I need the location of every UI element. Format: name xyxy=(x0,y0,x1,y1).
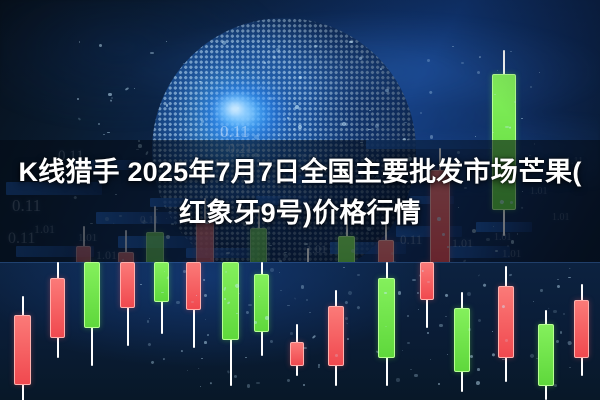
speckle xyxy=(439,324,443,328)
speckle xyxy=(568,341,572,345)
speckle xyxy=(447,354,449,356)
speckle xyxy=(196,295,197,296)
speckle xyxy=(478,274,480,276)
speckle xyxy=(149,318,150,319)
speckle xyxy=(348,290,353,295)
cover-image: 0.110.110.211.011.110.111.010.111.011.01… xyxy=(0,0,600,400)
speckle xyxy=(505,339,508,342)
speckle xyxy=(301,285,304,288)
speckle xyxy=(210,382,213,385)
speckle xyxy=(248,304,252,306)
speckle xyxy=(529,353,534,358)
speckle xyxy=(205,318,206,319)
speckle xyxy=(343,267,345,268)
speckle xyxy=(265,316,269,320)
speckle xyxy=(259,296,260,297)
speckle xyxy=(491,352,495,356)
speckle xyxy=(303,347,307,349)
speckle xyxy=(422,270,424,272)
speckle xyxy=(417,292,420,295)
speckle xyxy=(492,331,494,332)
speckle xyxy=(162,358,165,361)
speckle xyxy=(476,380,480,384)
speckle xyxy=(245,357,247,358)
speckle xyxy=(468,328,471,331)
speckle xyxy=(234,283,239,288)
speckle xyxy=(191,301,195,303)
title-line-1: K线猎手 2025年7月7日全国主要批发市场芒果( xyxy=(18,157,581,187)
speckle xyxy=(508,274,511,276)
speckle xyxy=(312,335,316,339)
speckle xyxy=(150,360,154,364)
speckle xyxy=(557,279,559,280)
speckle xyxy=(294,298,296,300)
speckle xyxy=(418,309,419,310)
speckle xyxy=(287,379,290,382)
speckle xyxy=(198,368,199,369)
speckle xyxy=(568,277,571,279)
speckle xyxy=(176,301,180,305)
speckle xyxy=(187,370,188,371)
speckle xyxy=(438,383,440,385)
speckle xyxy=(183,270,186,273)
speckle xyxy=(414,374,418,376)
speckle xyxy=(303,384,305,386)
speckle xyxy=(540,289,543,292)
speckle xyxy=(569,367,571,368)
speckle xyxy=(548,308,550,310)
speckle xyxy=(407,342,411,344)
speckle xyxy=(560,331,563,334)
speckle xyxy=(246,311,250,315)
speckle xyxy=(445,316,446,317)
speckle xyxy=(427,281,430,283)
speckle xyxy=(256,382,260,384)
speckle xyxy=(346,322,349,325)
speckle xyxy=(385,326,386,327)
speckle xyxy=(554,384,557,387)
speckle xyxy=(553,310,557,314)
speckle xyxy=(161,292,163,293)
speckle xyxy=(344,300,348,304)
speckle xyxy=(147,320,149,322)
speckle xyxy=(412,279,416,281)
speckle xyxy=(279,272,281,274)
speckle xyxy=(287,305,290,306)
speckle xyxy=(533,301,535,302)
speckle xyxy=(419,274,420,276)
speckle xyxy=(227,370,230,373)
speckle xyxy=(309,312,311,313)
speckle xyxy=(234,375,237,378)
speckle xyxy=(427,332,429,334)
speckle xyxy=(430,359,431,360)
speckle xyxy=(557,285,560,288)
speckle xyxy=(227,302,230,305)
speckle xyxy=(270,268,274,272)
speckle xyxy=(239,293,240,294)
speckle xyxy=(482,284,486,288)
speckle xyxy=(236,313,238,315)
speckle xyxy=(477,368,480,371)
speckle xyxy=(556,340,559,343)
speckle xyxy=(356,306,361,311)
speckle xyxy=(290,332,293,335)
speckle xyxy=(470,355,473,358)
speckle xyxy=(224,271,226,273)
speckle xyxy=(407,315,409,317)
speckle xyxy=(410,369,411,370)
speckle xyxy=(254,321,257,324)
speckle xyxy=(445,294,448,297)
speckle xyxy=(396,378,400,382)
speckle xyxy=(280,290,281,291)
speckle xyxy=(375,350,378,353)
speckle xyxy=(180,349,183,352)
speckle xyxy=(345,317,348,320)
speckle xyxy=(201,358,203,359)
speckle xyxy=(306,299,308,301)
speckle xyxy=(147,342,151,346)
speckle xyxy=(247,384,250,387)
page-title: K线猎手 2025年7月7日全国主要批发市场芒果( 红象牙9号)价格行情 xyxy=(0,152,600,234)
speckle xyxy=(204,341,207,344)
speckle xyxy=(207,333,210,336)
speckle xyxy=(467,292,471,296)
speckle xyxy=(384,292,387,294)
speckle xyxy=(398,291,402,295)
speckle xyxy=(357,274,360,276)
speckle xyxy=(502,304,506,308)
speckle xyxy=(202,278,205,281)
speckle xyxy=(477,319,481,323)
speckle xyxy=(223,287,226,291)
speckle xyxy=(140,284,142,285)
speckle xyxy=(536,358,537,359)
speckle xyxy=(347,338,350,341)
speckle xyxy=(204,294,207,297)
speckle xyxy=(167,277,169,280)
speckle xyxy=(224,298,226,300)
title-line-2: 红象牙9号)价格行情 xyxy=(179,198,421,228)
speckle xyxy=(402,350,404,352)
speckle xyxy=(164,271,165,272)
speckle xyxy=(335,354,338,357)
speckle xyxy=(200,386,201,387)
speckle xyxy=(270,339,274,343)
speckle xyxy=(563,313,565,315)
speckle xyxy=(569,268,571,270)
speckle xyxy=(502,359,505,361)
